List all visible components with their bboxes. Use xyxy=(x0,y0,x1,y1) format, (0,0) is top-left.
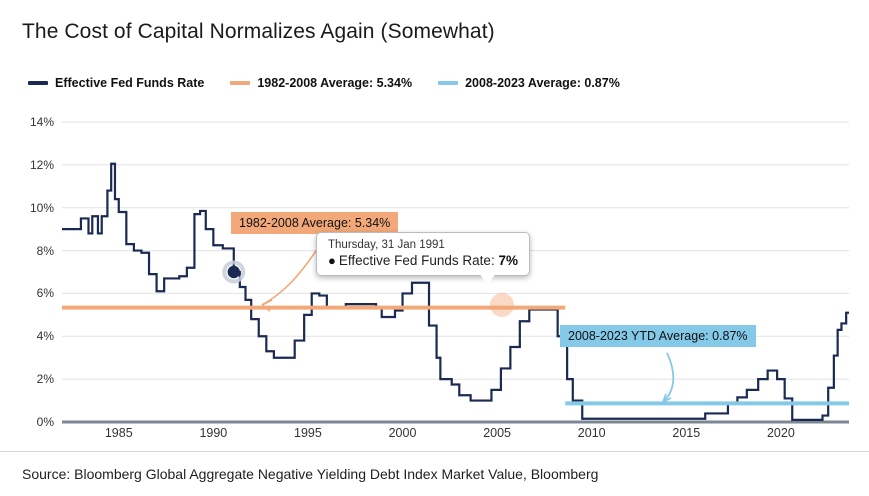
y-tick-6: 6% xyxy=(8,286,54,300)
tooltip-value-row: ●Effective Fed Funds Rate: 7% xyxy=(328,253,518,268)
tooltip-tail xyxy=(480,275,495,284)
legend-item-2008-2023-average[interactable]: 2008-2023 Average: 0.87% xyxy=(438,76,620,90)
x-tick-1990: 1990 xyxy=(199,426,227,440)
chart-page: The Cost of Capital Normalizes Again (So… xyxy=(0,0,869,496)
chart-highlight-marker[interactable] xyxy=(224,263,243,282)
data-point-tooltip: Thursday, 31 Jan 1991 ●Effective Fed Fun… xyxy=(316,232,530,276)
legend-label-blue-average: 2008-2023 Average: 0.87% xyxy=(465,76,620,90)
legend-item-1982-2008-average[interactable]: 1982-2008 Average: 5.34% xyxy=(230,76,412,90)
legend-swatch-blue-average xyxy=(438,81,458,85)
chart-legend: Effective Fed Funds Rate 1982-2008 Avera… xyxy=(28,76,646,90)
y-tick-12: 12% xyxy=(8,158,54,172)
chart-series-layer xyxy=(62,164,849,420)
legend-label-orange-average: 1982-2008 Average: 5.34% xyxy=(257,76,412,90)
y-tick-0: 0% xyxy=(8,415,54,429)
x-tick-2015: 2015 xyxy=(672,426,700,440)
x-tick-1995: 1995 xyxy=(294,426,322,440)
y-tick-10: 10% xyxy=(8,201,54,215)
x-tick-2000: 2000 xyxy=(389,426,417,440)
tooltip-date: Thursday, 31 Jan 1991 xyxy=(328,239,518,251)
source-caption: Source: Bloomberg Global Aggregate Negat… xyxy=(22,466,598,482)
footer-divider xyxy=(0,451,869,452)
legend-swatch-series xyxy=(28,81,48,85)
y-tick-4: 4% xyxy=(8,329,54,343)
x-tick-2010: 2010 xyxy=(578,426,606,440)
legend-item-effective-fed-funds-rate[interactable]: Effective Fed Funds Rate xyxy=(28,76,204,90)
legend-label-series: Effective Fed Funds Rate xyxy=(55,76,204,90)
page-title: The Cost of Capital Normalizes Again (So… xyxy=(22,20,495,44)
y-tick-14: 14% xyxy=(8,115,54,129)
tooltip-series-label: Effective Fed Funds Rate: xyxy=(339,253,495,268)
legend-swatch-orange-average xyxy=(230,81,250,85)
chart-reference-lines xyxy=(62,308,849,404)
y-tick-8: 8% xyxy=(8,244,54,258)
tooltip-bullet-icon: ● xyxy=(328,253,336,268)
x-tick-2005: 2005 xyxy=(483,426,511,440)
x-tick-1985: 1985 xyxy=(105,426,133,440)
tooltip-value: 7% xyxy=(498,253,518,268)
blue-average-label: 2008-2023 YTD Average: 0.87% xyxy=(560,325,756,347)
x-tick-2020: 2020 xyxy=(767,426,795,440)
y-tick-2: 2% xyxy=(8,372,54,386)
